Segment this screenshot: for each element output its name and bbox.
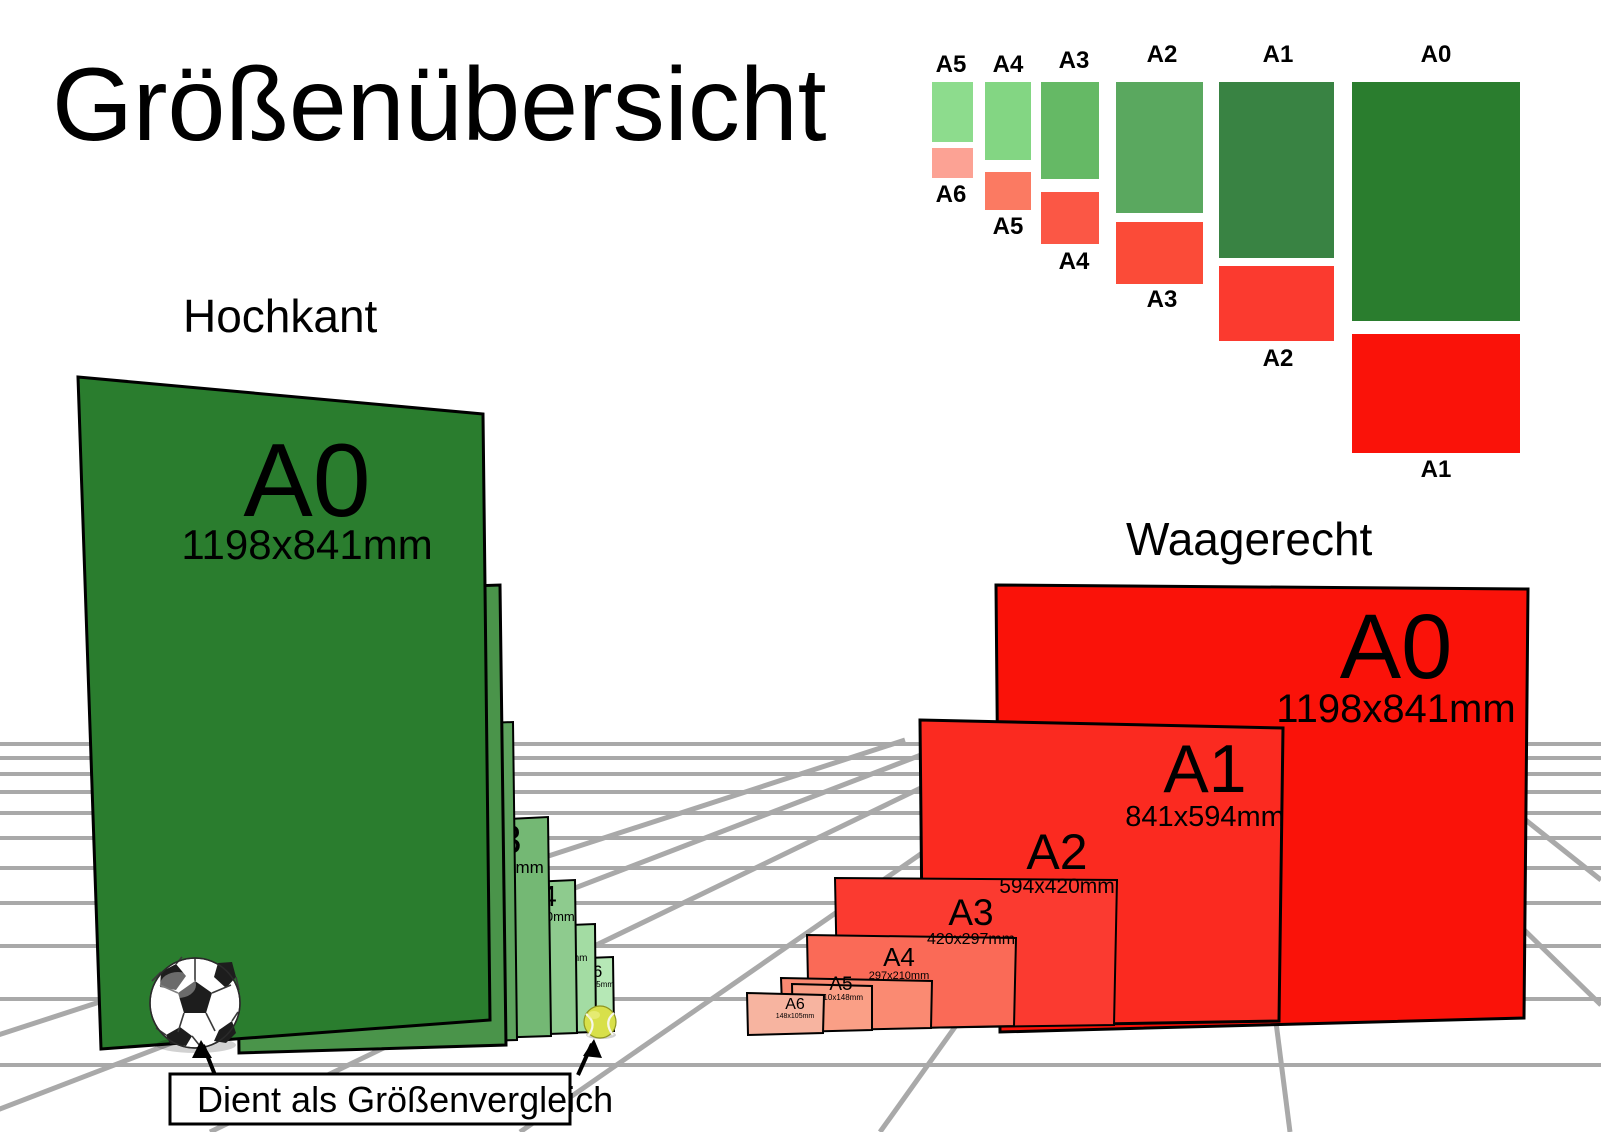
legend-bottom-label-5: A2 (1263, 345, 1294, 372)
portrait-sheet-a0-dims: 1198x841mm (181, 521, 432, 568)
legend-green-box-a2 (1116, 82, 1203, 213)
tennis-ball (584, 1006, 616, 1039)
legend-column-1: A5 A6 (932, 51, 973, 208)
portrait-sheet-a0: A0 1198x841mm (78, 377, 490, 1049)
landscape-sheet-a2-dims: 594x420mm (999, 875, 1115, 898)
legend-top-label-4: A2 (1147, 41, 1178, 68)
legend-green-box-a4 (985, 82, 1031, 160)
legend-bottom-label-2: A5 (993, 213, 1024, 240)
legend-bottom-label-1: A6 (936, 181, 967, 208)
landscape-sheet-a5-name: A5 (829, 974, 852, 995)
landscape-sheet-a5-dims: 210x148mm (819, 993, 863, 1002)
landscape-sheet-a4-name: A4 (883, 942, 915, 972)
legend-column-5: A1 A2 (1219, 41, 1334, 372)
landscape-heading: Waagerecht (1126, 513, 1373, 565)
landscape-sheet-a3-dims: 420x297mm (927, 931, 1015, 948)
legend-top-label-1: A5 (936, 51, 967, 78)
landscape-sheet-a6: A6 148x105mm (747, 993, 824, 1035)
portrait-sheet-stack: A6 148x105mm A5 210x148mm A4 297x210mm A… (78, 377, 614, 1053)
size-overview-illustration: Größenübersicht Hochkant Waagerecht A5 A… (0, 0, 1601, 1132)
legend-bottom-label-4: A3 (1147, 286, 1178, 313)
landscape-sheet-a0-dims: 1198x841mm (1276, 687, 1515, 731)
landscape-sheet-a0-name: A0 (1340, 596, 1453, 698)
legend-bottom-label-6: A1 (1421, 456, 1452, 483)
legend-size-ladder: A5 A6 A4 A5 A3 A4 A2 A3 A1 (932, 41, 1520, 483)
landscape-sheet-stack: A0 1198x841mm A1 841x594mm A2 594x420mm … (747, 585, 1528, 1035)
landscape-sheet-a6-name: A6 (785, 996, 805, 1013)
legend-top-label-6: A0 (1421, 41, 1452, 68)
portrait-heading: Hochkant (183, 290, 378, 342)
legend-bottom-label-3: A4 (1059, 248, 1090, 275)
poster-canvas: Größenübersicht Hochkant Waagerecht A5 A… (0, 0, 1601, 1132)
legend-red-box-a3 (1116, 222, 1203, 284)
landscape-sheet-a6-dims: 148x105mm (776, 1013, 815, 1020)
arrowhead-tennis (583, 1039, 602, 1058)
size-comparison-caption: Dient als Größenvergleich (170, 1074, 613, 1124)
legend-column-4: A2 A3 (1116, 41, 1203, 313)
landscape-sheet-a1-name: A1 (1163, 731, 1246, 807)
legend-red-box-a1 (1352, 334, 1520, 453)
legend-green-box-a1 (1219, 82, 1334, 258)
landscape-sheet-a3-name: A3 (948, 892, 993, 933)
legend-green-box-a5 (932, 82, 973, 142)
legend-column-3: A3 A4 (1041, 47, 1099, 275)
legend-red-box-a2 (1219, 266, 1334, 341)
legend-column-6: A0 A1 (1352, 41, 1520, 483)
page-title: Größenübersicht (52, 47, 827, 163)
legend-top-label-2: A4 (993, 51, 1024, 78)
landscape-sheet-a4-dims: 297x210mm (869, 970, 930, 982)
legend-green-box-a0 (1352, 82, 1520, 321)
legend-green-box-a3 (1041, 82, 1099, 179)
legend-top-label-5: A1 (1263, 41, 1294, 68)
landscape-sheet-a2-name: A2 (1026, 824, 1087, 880)
legend-column-2: A4 A5 (985, 51, 1031, 240)
size-comparison-caption-text: Dient als Größenvergleich (197, 1079, 613, 1120)
legend-top-label-3: A3 (1059, 47, 1090, 74)
landscape-sheet-a1-dims: 841x594mm (1125, 801, 1285, 833)
legend-red-box-a4 (1041, 192, 1099, 244)
legend-red-box-a6 (932, 148, 973, 178)
legend-red-box-a5 (985, 172, 1031, 210)
